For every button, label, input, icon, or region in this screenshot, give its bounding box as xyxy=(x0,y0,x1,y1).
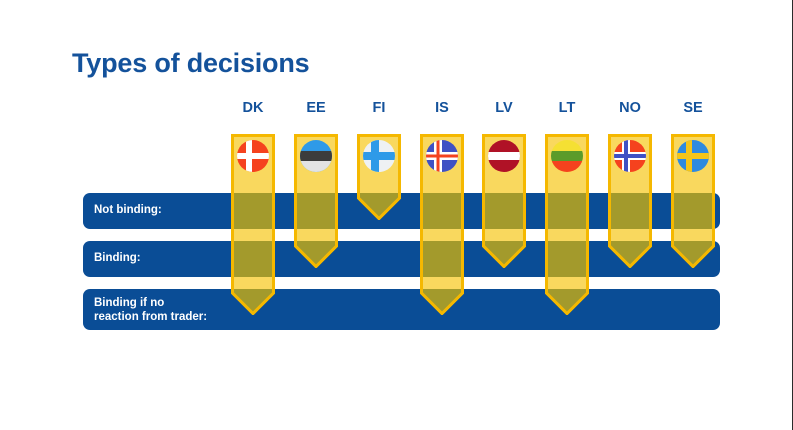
row-label-not-binding: Not binding: xyxy=(94,204,162,218)
flag-icon-lithuania xyxy=(551,140,583,172)
flag-icon-sweden xyxy=(677,140,709,172)
country-code-label-lt: LT xyxy=(545,100,589,116)
flag-icon-denmark xyxy=(237,140,269,172)
slide-canvas: Types of decisions Not binding: Binding:… xyxy=(0,0,791,430)
country-code-label-fi: FI xyxy=(357,100,401,116)
row-label-binding-if-no-reaction: Binding if no reaction from trader: xyxy=(94,297,207,324)
row-bar-binding-if-no-reaction: Binding if no reaction from trader: xyxy=(83,289,720,330)
country-code-label-no: NO xyxy=(608,100,652,116)
flag-icon-latvia xyxy=(488,140,520,172)
country-code-label-se: SE xyxy=(671,100,715,116)
country-code-label-lv: LV xyxy=(482,100,526,116)
country-code-label-dk: DK xyxy=(231,100,275,116)
row-label-binding: Binding: xyxy=(94,252,141,266)
flag-icon-norway xyxy=(614,140,646,172)
country-code-label-is: IS xyxy=(420,100,464,116)
flag-icon-estonia xyxy=(300,140,332,172)
country-code-label-ee: EE xyxy=(294,100,338,116)
flag-icon-finland xyxy=(363,140,395,172)
flag-icon-iceland xyxy=(426,140,458,172)
page-title: Types of decisions xyxy=(72,48,309,79)
